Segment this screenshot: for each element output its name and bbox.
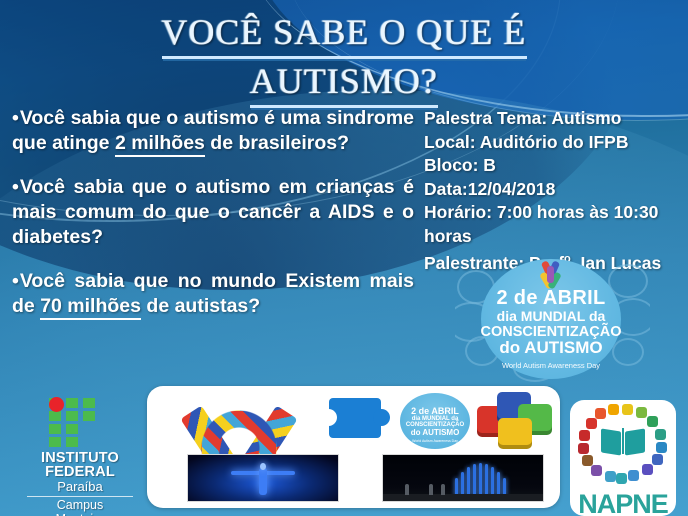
event-details: Palestra Tema: Autismo Local: Auditório … <box>424 107 686 275</box>
slide-title: VOCÊ SABE O QUE É AUTISMO? <box>0 10 688 108</box>
ifpb-grid-icon <box>49 398 111 448</box>
ifpb-divider <box>27 496 133 497</box>
bullet-item-1: •Você sabia que o autismo é uma sindrome… <box>12 106 414 156</box>
presentation-slide: VOCÊ SABE O QUE É AUTISMO? •Você sabia q… <box>0 0 688 516</box>
ifpb-campus-line-2: Monteiro <box>18 513 142 516</box>
ifpb-red-dot-icon <box>49 397 64 412</box>
mini-badge-line-4: do AUTISMO <box>400 428 470 437</box>
event-location: Local: Auditório do IFPB <box>424 131 686 155</box>
napne-logo: NAPNE <box>570 400 676 516</box>
mini-world-autism-day-badge: 2 de ABRIL dia MUNDIAL da CONSCIENTIZAÇÃ… <box>400 393 470 449</box>
event-block: Bloco: B <box>424 154 686 178</box>
bullet-marker: • <box>12 107 19 129</box>
bullet-item-2: •Você sabia que o autismo em crianças é … <box>12 175 414 250</box>
mini-badge-line-1: 2 de ABRIL <box>400 406 470 416</box>
bullet-2-text: Você sabia que o autismo em crianças é m… <box>12 176 414 248</box>
world-autism-day-badge: 2 de ABRIL dia MUNDIAL da CONSCIENTIZAÇÃ… <box>455 254 650 382</box>
ifpb-name-line-1: INSTITUTO <box>18 451 142 465</box>
puzzle-cluster-icon <box>477 392 553 454</box>
badge-line-2: dia MUNDIAL da <box>497 309 606 323</box>
badge-line-4: do AUTISMO <box>499 339 602 356</box>
ifpb-state: Paraíba <box>18 479 142 494</box>
napne-label: NAPNE <box>570 489 676 516</box>
christ-redeemer-photo <box>187 454 339 502</box>
ifpb-name-line-2: FEDERAL <box>18 465 142 479</box>
event-time: Horário: 7:00 horas às 10:30 horas <box>424 201 686 248</box>
bullet-item-3: •Você sabia que no mundo Existem mais de… <box>12 269 414 319</box>
bullet-3-tail: de autistas? <box>141 295 260 317</box>
bullet-marker: • <box>12 270 19 292</box>
event-date: Data:12/04/2018 <box>424 178 686 202</box>
bullet-marker: • <box>12 176 19 198</box>
puzzle-ribbon-icon <box>538 261 564 287</box>
badge-line-1: 2 de ABRIL <box>497 288 606 308</box>
image-strip-panel: 2 de ABRIL dia MUNDIAL da CONSCIENTIZAÇÃ… <box>147 386 560 508</box>
badge-line-5: World Autism Awareness Day <box>502 361 600 370</box>
title-line-1: VOCÊ SABE O QUE É <box>162 10 527 59</box>
event-topic: Palestra Tema: Autismo <box>424 107 686 131</box>
bullet-1-tail: de brasileiros? <box>205 132 349 154</box>
open-book-icon <box>601 426 645 454</box>
bullet-1-highlight: 2 milhões <box>115 132 205 157</box>
brasilia-cathedral-photo <box>382 454 544 502</box>
title-line-2: AUTISMO? <box>250 59 438 108</box>
fact-bullet-list: •Você sabia que o autismo é uma sindrome… <box>12 106 414 319</box>
mini-badge-line-5: World Autism Awareness Day <box>400 439 470 443</box>
ifpb-logo: INSTITUTO FEDERAL Paraíba Campus Monteir… <box>18 398 142 510</box>
badge-content: 2 de ABRIL dia MUNDIAL da CONSCIENTIZAÇÃ… <box>481 259 621 379</box>
puzzle-piece-icon <box>329 398 389 444</box>
ifpb-campus-line-1: Campus <box>18 499 142 513</box>
badge-line-3: CONSCIENTIZAÇÃO <box>481 325 622 340</box>
bullet-3-highlight: 70 milhões <box>40 295 141 320</box>
